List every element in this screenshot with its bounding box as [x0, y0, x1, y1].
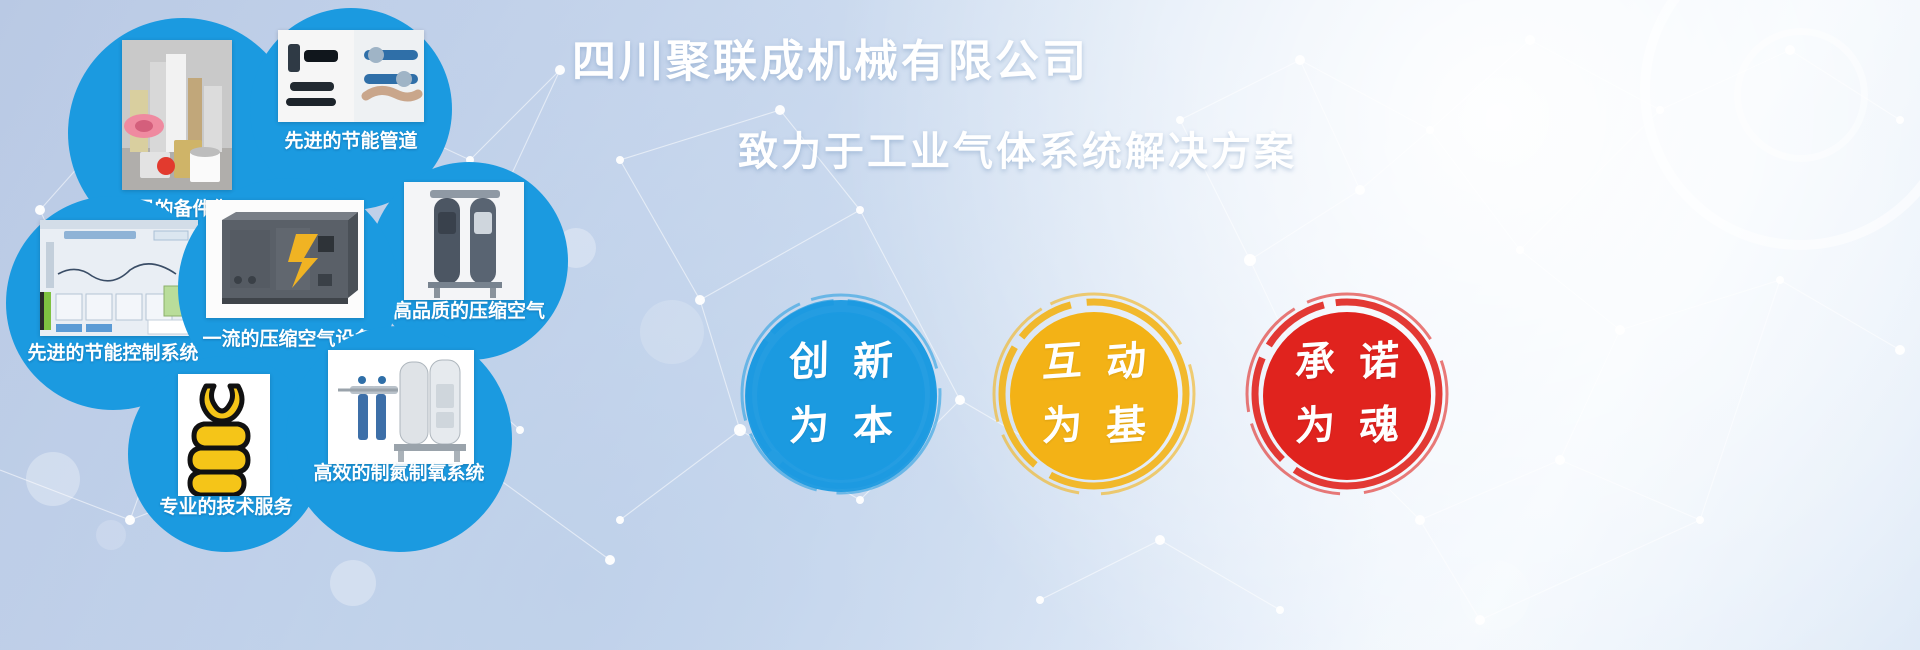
- feature-caption: 高品质的压缩空气: [393, 296, 545, 323]
- stamp-innovation[interactable]: 创 新 为 本: [735, 288, 947, 500]
- stamp-char: 基: [1106, 405, 1147, 448]
- feature-caption: 专业的技术服务: [159, 492, 292, 519]
- company-slogan-headline: 致力于工业气体系统解决方案: [738, 132, 1390, 172]
- stamp-char: 创: [789, 341, 830, 384]
- stamp-char: 为: [1295, 405, 1336, 448]
- feature-circles-cluster: 充足的备件供应 先进的节能管: [0, 0, 600, 650]
- filter-elements-photo: [122, 40, 232, 190]
- value-stamps-group: 创 新 为 本 互 动 为 基: [735, 288, 1455, 538]
- headline-block: 四川聚联成机械有限公司 致力于工业气体系统解决方案: [560, 40, 1390, 172]
- twin-tower-dryer-photo: [404, 182, 524, 300]
- stamp-char: 互: [1042, 341, 1083, 384]
- company-name-headline: 四川聚联成机械有限公司: [572, 40, 1390, 84]
- stamp-characters: 创 新 为 本: [777, 330, 905, 458]
- stamp-char: 为: [789, 405, 830, 448]
- feature-caption: 先进的节能控制系统: [27, 338, 198, 365]
- stamp-characters: 承 诺 为 魂: [1283, 330, 1411, 458]
- stamp-characters: 互 动 为 基: [1030, 330, 1158, 458]
- stamp-char: 魂: [1359, 405, 1400, 448]
- ring-decoration: [1734, 28, 1868, 162]
- feature-circle-nitrogen-oxygen[interactable]: 高效的制氮制氧系统: [286, 326, 512, 552]
- stamp-char: 动: [1106, 341, 1147, 384]
- company-hero-banner: 充足的备件供应 先进的节能管: [0, 0, 1920, 650]
- piping-tools-photo: [278, 30, 424, 122]
- bubble-decoration: [640, 300, 704, 364]
- stamp-char: 新: [853, 341, 894, 384]
- stamp-interaction[interactable]: 互 动 为 基: [988, 288, 1200, 500]
- stamp-char: 承: [1295, 341, 1336, 384]
- screw-compressor-photo: [206, 200, 364, 318]
- feature-caption: 先进的节能管道: [284, 126, 417, 153]
- bubble-decoration: [1460, 560, 1530, 630]
- hand-wrench-icon: [178, 374, 270, 496]
- stamp-char: 为: [1042, 405, 1083, 448]
- feature-caption: 高效的制氮制氧系统: [313, 458, 484, 485]
- stamp-char: 诺: [1359, 341, 1400, 384]
- stamp-char: 本: [853, 405, 894, 448]
- control-software-screen: [40, 220, 198, 336]
- stamp-commitment[interactable]: 承 诺 为 魂: [1241, 288, 1453, 500]
- psa-nitrogen-plant-photo: [328, 350, 474, 464]
